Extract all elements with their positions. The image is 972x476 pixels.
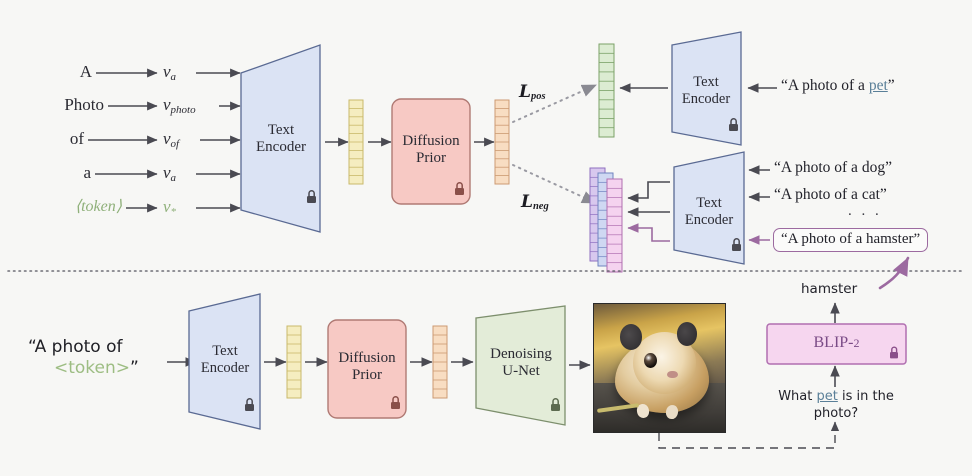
loss-pos-symbol: L [519,82,531,102]
image-embedding-vector-bottom [433,326,447,398]
vqa-question-suffix: is in the [838,389,894,404]
positive-prompt: “A photo of a pet” [781,77,895,95]
inference-prompt-token: <token> [54,358,130,378]
loss-neg-label: Lneg [521,192,549,212]
photo-hamster-eye [644,353,657,368]
vqa-question-line1: What pet is in the [760,389,912,406]
vqa-question-link: pet [816,389,837,404]
input-word-1: Photo [20,95,104,115]
text-encoder-pos-label: Text Encoder [673,74,739,107]
vqa-question-prefix: What [778,389,816,404]
diffusion-prior-bottom-label-line2: Prior [328,367,406,384]
text-encoder-infer-label-line1: Text [192,343,258,360]
text-encoder-infer-label-line2: Encoder [192,360,258,377]
blip2-label-number: 2 [854,336,860,350]
input-vector-0-base: v [163,62,171,81]
text-encoder-neg-label-line1: Text [676,195,742,212]
input-vector-3: va [163,163,176,184]
vqa-question: What pet is in the photo? [760,389,912,423]
diffusion-prior-top-label: Diffusion Prior [392,133,470,168]
text-encoder-neg-label-line2: Encoder [676,212,742,229]
diffusion-prior-bottom-label-line1: Diffusion [328,350,406,367]
negative-text-embedding-vectors [590,168,622,272]
generated-image [593,303,726,433]
input-vector-4-sub: * [171,206,177,218]
diagram-canvas: A Photo of a ⟨token⟩ va vphoto vof va v*… [0,0,972,476]
blip2-answer: hamster [801,281,857,297]
text-encoder-infer-label: Text Encoder [192,343,258,376]
negative-prompt-ellipsis: . . . [848,203,882,220]
negative-prompt-0: “A photo of a dog” [774,159,892,177]
input-vector-1-base: v [163,95,171,114]
input-word-2: of [20,129,84,149]
input-vector-0-sub: a [171,71,177,83]
diffusion-prior-bottom-label: Diffusion Prior [328,350,406,385]
highlighted-negative-prompt[interactable]: “A photo of a hamster” [773,228,928,252]
input-vector-2: vof [163,129,179,150]
text-encoder-pos-label-line1: Text [673,74,739,91]
loss-pos-label: Lpos [519,82,546,102]
input-word-4: ⟨token⟩ [12,196,122,216]
text-embedding-vector-bottom [287,326,301,398]
blip2-label-name: BLIP- [814,334,854,351]
predicted-image-embedding-vector [495,100,509,184]
loss-neg-sub: neg [533,201,549,212]
inference-prompt-quote: ” [130,358,139,378]
positive-prompt-prefix: “A photo of a [781,77,869,94]
loss-pos-sub: pos [531,91,546,102]
denoising-unet-label-line1: Denoising [478,346,564,363]
input-vector-4: v* [163,197,176,218]
positive-text-embedding-vector [599,44,614,137]
positive-prompt-suffix: ” [888,77,895,94]
input-word-0: A [20,62,92,82]
loss-neg-symbol: L [521,192,533,212]
positive-prompt-link: pet [869,77,888,94]
text-embedding-vector-top [349,100,363,184]
blip2-label: BLIP-2 [767,334,906,352]
diffusion-prior-top-label-line2: Prior [392,150,470,167]
input-vector-2-base: v [163,129,171,148]
text-encoder-train-label: Text Encoder [245,122,317,157]
text-encoder-train-label-line1: Text [245,122,317,139]
denoising-unet-label: Denoising U-Net [478,346,564,381]
text-encoder-pos-label-line2: Encoder [673,91,739,108]
input-vector-4-base: v [163,197,171,216]
input-vector-1-sub: photo [171,104,196,116]
inference-prompt-line2: <token>” [28,358,139,379]
text-encoder-train-label-line2: Encoder [245,139,317,156]
input-vector-3-base: v [163,163,171,182]
answer-to-prompt-curved-arrow [880,258,908,288]
inference-prompt-line1: “A photo of [28,337,139,358]
input-vector-2-sub: of [171,138,180,150]
text-encoder-neg-label: Text Encoder [676,195,742,228]
input-vector-1: vphoto [163,95,196,116]
diffusion-prior-top-label-line1: Diffusion [392,133,470,150]
input-vector-0: va [163,62,176,83]
input-vector-3-sub: a [171,172,177,184]
input-word-3: a [20,163,91,183]
vqa-question-line2: photo? [760,406,912,423]
negative-prompt-1: “A photo of a cat” [774,186,887,204]
inference-input-prompt: “A photo of <token>” [28,337,139,380]
photo-hamster-nose [667,371,677,379]
denoising-unet-label-line2: U-Net [478,363,564,380]
